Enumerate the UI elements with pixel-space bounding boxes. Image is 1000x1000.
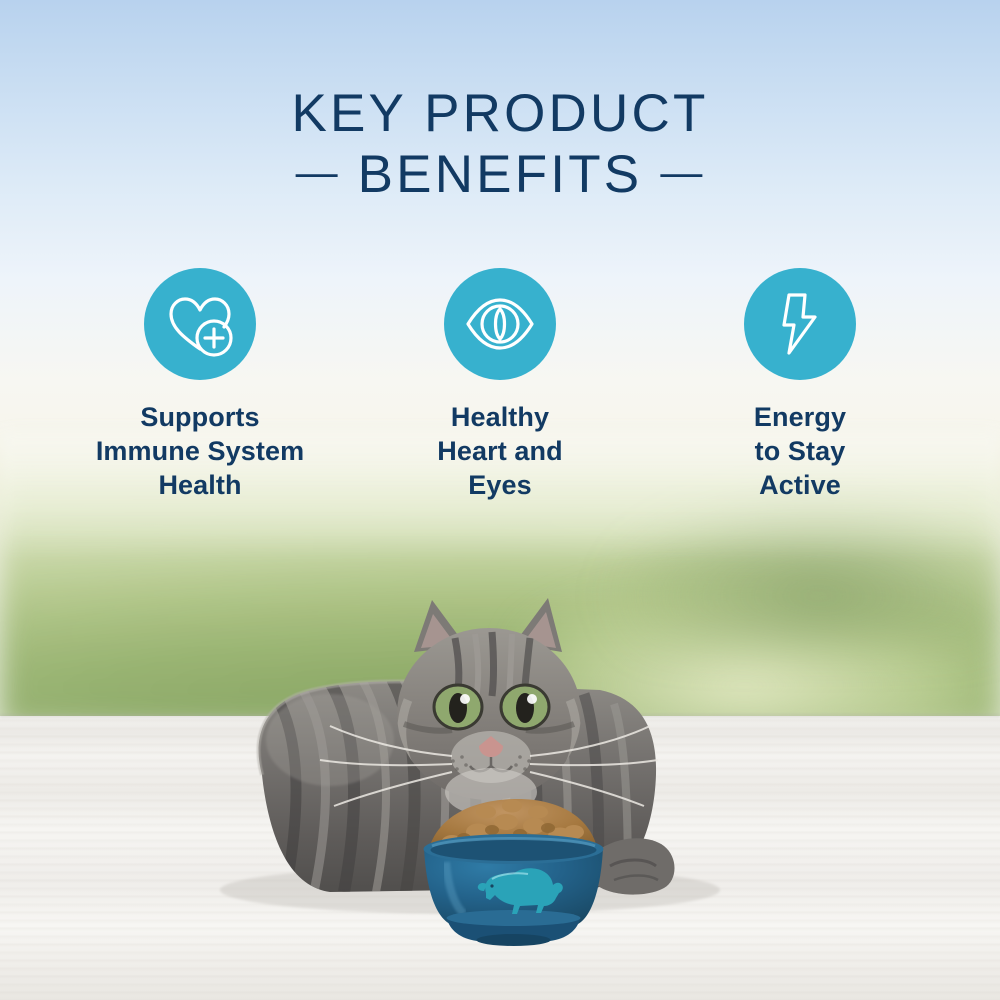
- title-line-1: KEY PRODUCT: [0, 86, 1000, 141]
- wood-grain-texture: [0, 716, 1000, 1000]
- benefit-label-immune: Supports Immune System Health: [96, 400, 304, 502]
- title-line-2: — BENEFITS —: [0, 147, 1000, 202]
- lightning-bolt-icon: [744, 268, 856, 380]
- benefit-label-line-3: Eyes: [437, 468, 562, 502]
- benefit-label-line-1: Healthy: [437, 400, 562, 434]
- benefit-label-heart-eyes: Healthy Heart and Eyes: [437, 400, 562, 502]
- promo-banner: KEY PRODUCT — BENEFITS — Supports Immune…: [0, 0, 1000, 1000]
- benefit-label-line-3: Active: [754, 468, 846, 502]
- eye-icon: [444, 268, 556, 380]
- title-line-2-text: BENEFITS: [358, 145, 643, 204]
- benefit-item-energy: Energy to Stay Active: [650, 268, 950, 502]
- benefit-label-line-2: Immune System: [96, 434, 304, 468]
- benefit-label-line-1: Supports: [96, 400, 304, 434]
- benefit-item-heart-eyes: Healthy Heart and Eyes: [350, 268, 650, 502]
- benefit-label-line-1: Energy: [754, 400, 846, 434]
- benefit-item-immune: Supports Immune System Health: [50, 268, 350, 502]
- benefits-row: Supports Immune System Health Healthy He…: [0, 268, 1000, 502]
- benefit-label-line-2: to Stay: [754, 434, 846, 468]
- page-title: KEY PRODUCT — BENEFITS —: [0, 86, 1000, 202]
- title-dash-right: —: [660, 148, 704, 195]
- benefit-label-line-2: Heart and: [437, 434, 562, 468]
- table-edge-line: [0, 714, 1000, 719]
- benefit-label-line-3: Health: [96, 468, 304, 502]
- benefit-label-energy: Energy to Stay Active: [754, 400, 846, 502]
- heart-plus-icon: [144, 268, 256, 380]
- title-dash-left: —: [296, 148, 340, 195]
